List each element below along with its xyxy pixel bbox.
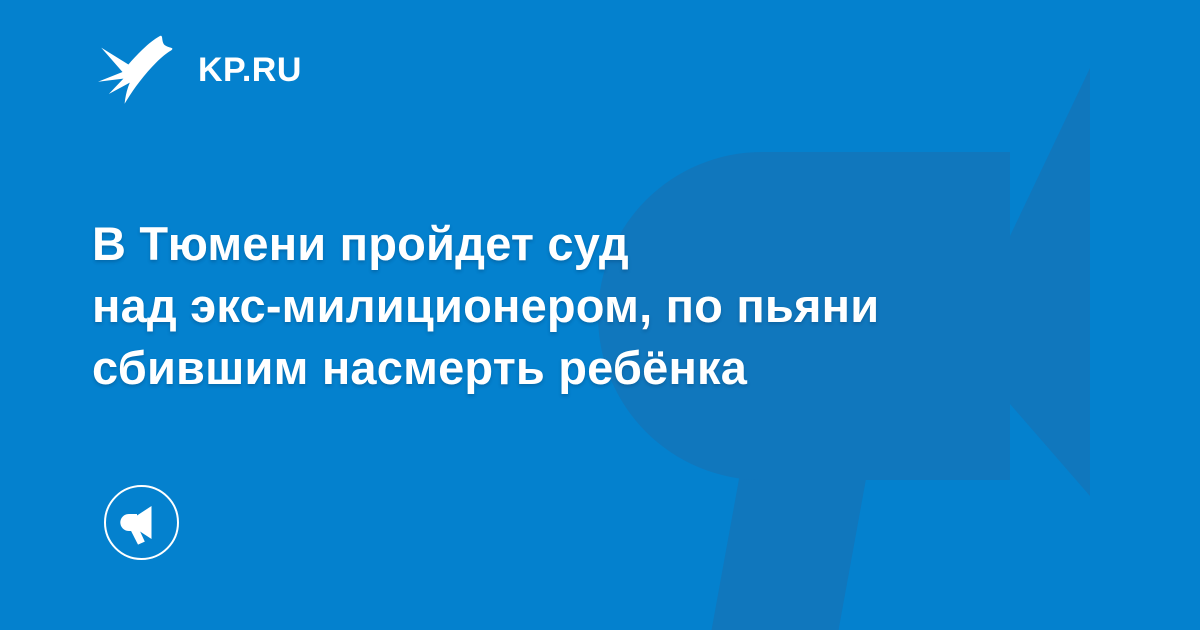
megaphone-badge[interactable] xyxy=(103,484,180,561)
page-title: В Тюмени пройдет суд над экс-милиционеро… xyxy=(92,213,1092,399)
megaphone-icon xyxy=(103,484,180,561)
headline-line-3: сбившим насмерть ребёнка xyxy=(92,337,1092,399)
brand-logo[interactable]: KP.RU xyxy=(96,34,302,106)
news-share-card: KP.RU В Тюмени пройдет суд над экс-милиц… xyxy=(0,0,1200,630)
swallow-bird-icon xyxy=(96,34,174,106)
headline-line-2: над экс-милиционером, по пьяни xyxy=(92,275,1092,337)
brand-name: KP.RU xyxy=(198,53,302,87)
headline-line-1: В Тюмени пройдет суд xyxy=(92,213,1092,275)
